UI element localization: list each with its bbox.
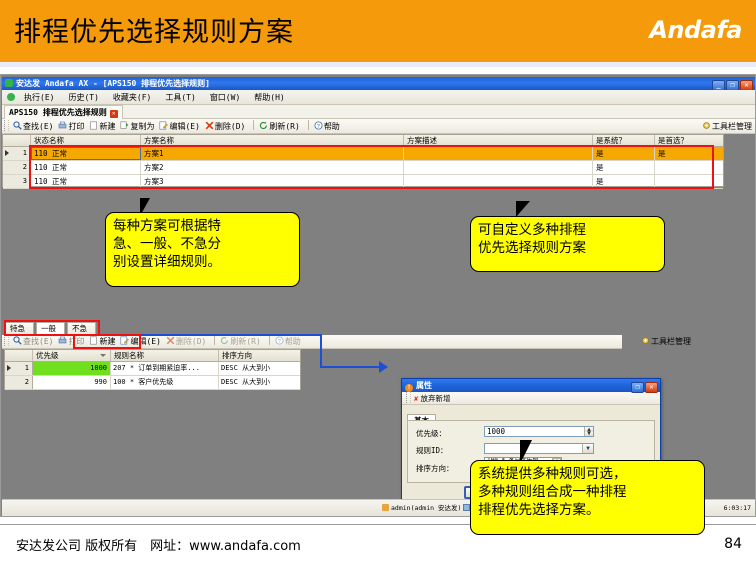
menu-item-history[interactable]: 历史(T) [61, 90, 105, 105]
copy-as-icon [120, 120, 129, 129]
help-icon: ? [314, 120, 323, 129]
rules-grid-header-priority[interactable]: 优先级 [33, 350, 111, 361]
dialog-toolbar-gripper[interactable] [406, 392, 411, 403]
cell-sort-direction[interactable]: DESC 从大到小 [219, 376, 300, 389]
menu-logo-icon [7, 93, 15, 101]
toolbar-copy-as-button[interactable]: 复制为 [119, 119, 158, 134]
dialog-close-icon[interactable]: ✕ [645, 382, 658, 393]
status-user: admin(admin 安达发) [382, 500, 472, 517]
new-icon [89, 120, 98, 129]
toolbar-refresh-button[interactable]: 刷新(R) [258, 119, 303, 134]
connector-arrowhead-icon [379, 361, 388, 373]
dialog-toolbar: ✘放弃新增 [402, 392, 660, 405]
sort-descending-icon [100, 354, 106, 357]
toolbar-manager-button[interactable]: 工具栏管理 [702, 119, 752, 134]
brand-logo: Andafa [649, 16, 742, 44]
callout-rules-detail: 每种方案可根据特 急、一般、不急分 别设置详细规则。 [105, 212, 300, 287]
print-icon [58, 120, 67, 129]
window-controls: _❐✕ [711, 78, 753, 89]
print-icon [58, 336, 67, 345]
rules-toolbar-gripper[interactable] [4, 335, 9, 346]
callout-rule-options: 系统提供多种规则可选， 多种规则组合成一种排程 排程优先选择方案。 [470, 460, 705, 535]
document-tab-label: APS150 排程优先选择规则 [9, 108, 107, 117]
toolbar-delete-label: 删除(D) [215, 122, 245, 131]
toolbar-find-label: 查找(E) [23, 122, 53, 131]
toolbar-delete-button[interactable]: 删除(D) [204, 119, 249, 134]
callout-tail-2 [516, 201, 546, 217]
dialog-tab-bar: 基本 [407, 408, 436, 420]
rules-toolbar-manager-label: 工具栏管理 [651, 337, 691, 346]
sort-direction-field-label: 排序方向： [416, 463, 454, 474]
table-row[interactable]: 2 990 100 * 客户优先级 DESC 从大到小 [5, 376, 300, 390]
cell-rule-name[interactable]: 100 * 客户优先级 [111, 376, 219, 389]
document-tab-aps150[interactable]: APS150 排程优先选择规则✕ [4, 105, 123, 119]
menu-item-tools[interactable]: 工具(T) [158, 90, 202, 105]
menu-item-execute[interactable]: 执行(E) [17, 90, 61, 105]
toolbar-refresh-label: 刷新(R) [269, 122, 299, 131]
menu-item-favorites[interactable]: 收藏夹(F) [106, 90, 158, 105]
row-number[interactable]: 3 [3, 175, 31, 188]
rules-toolbar-find-button[interactable]: 查找(E) [12, 335, 57, 349]
find-icon [13, 336, 22, 345]
find-icon [13, 120, 22, 129]
toolbar-edit-button[interactable]: 编辑(E) [158, 119, 203, 134]
toolbar-new-label: 新建 [99, 122, 115, 131]
toolbar-copy-as-label: 复制为 [130, 122, 154, 131]
dialog-restore-icon[interactable]: ❐ [631, 382, 644, 393]
status-time: 6:03:17 [724, 500, 751, 517]
discard-new-label: 放弃新增 [421, 394, 451, 403]
row-number[interactable]: 2 [3, 161, 31, 174]
window-titlebar: 安达发 Andafa AX - [APS150 排程优先选择规则] _❐✕ [2, 77, 755, 90]
chevron-down-icon[interactable]: ▼ [582, 444, 593, 453]
document-tab-bar: APS150 排程优先选择规则✕ [2, 105, 755, 119]
rules-toolbar-manager-button[interactable]: 工具栏管理 [641, 335, 691, 349]
application-screenshot: 安达发 Andafa AX - [APS150 排程优先选择规则] _❐✕ 执行… [0, 74, 756, 517]
toolbar-print-button[interactable]: 打印 [57, 119, 88, 134]
delete-icon [205, 120, 214, 129]
rule-id-field-label: 规则ID： [416, 445, 448, 456]
toolbar-help-label: 帮助 [324, 122, 340, 131]
connector-top [141, 334, 322, 367]
menu-item-help[interactable]: 帮助(H) [247, 90, 291, 105]
toolbar-separator [253, 120, 254, 130]
toolbar-help-button[interactable]: ?帮助 [313, 119, 344, 134]
dialog-title-text: 属性 [416, 381, 432, 390]
toolbar-print-label: 打印 [68, 122, 84, 131]
highlight-box-schemes [29, 145, 714, 189]
schemes-grid-header-rownum [3, 135, 31, 146]
toolbar-gripper[interactable] [4, 120, 9, 131]
tab-close-icon[interactable]: ✕ [110, 110, 118, 118]
gear-icon [641, 336, 650, 345]
connector-line [320, 366, 380, 368]
user-icon [382, 504, 389, 511]
priority-field-value: 1000 [487, 427, 505, 436]
rules-toolbar-find-label: 查找(E) [23, 337, 53, 346]
menu-bar: 执行(E)历史(T)收藏夹(F)工具(T)窗口(W)帮助(H) [2, 90, 755, 105]
dialog-titlebar: !属性 ❐✕ [402, 379, 660, 392]
discard-new-button[interactable]: ✘放弃新增 [414, 394, 451, 403]
footer-copyright: 安达发公司 版权所有 网址：www.andafa.com [16, 535, 301, 554]
gear-icon [702, 120, 711, 129]
page-title: 排程优先选择规则方案 [14, 10, 294, 49]
edit-icon [159, 120, 168, 129]
header-divider [0, 62, 756, 67]
rules-grid-header-priority-label: 优先级 [36, 351, 59, 360]
refresh-icon [259, 120, 268, 129]
callout-custom-schemes: 可自定义多种排程 优先选择规则方案 [470, 216, 665, 272]
main-toolbar: 查找(E) 打印 新建 复制为 编辑(E) 删除(D) 刷新(R) ?帮助 工具… [2, 119, 755, 134]
window-title-text: 安达发 Andafa AX - [APS150 排程优先选择规则] [16, 79, 210, 88]
toolbar-find-button[interactable]: 查找(E) [12, 119, 57, 134]
info-icon: ! [405, 384, 413, 392]
toolbar-new-button[interactable]: 新建 [88, 119, 119, 134]
toolbar-edit-label: 编辑(E) [169, 122, 199, 131]
spinner-down-icon[interactable]: ▼ [584, 432, 593, 436]
priority-field[interactable]: 1000 ▲ ▼ [484, 426, 594, 437]
page-number: 84 [724, 536, 742, 552]
current-row-marker-icon [7, 365, 11, 371]
row-number[interactable]: 2 [5, 376, 33, 389]
discard-icon: ✘ [414, 394, 419, 403]
toolbar-manager-label: 工具栏管理 [712, 122, 752, 131]
status-user-label: admin(admin 安达发) [391, 504, 461, 512]
menu-item-window[interactable]: 窗口(W) [203, 90, 247, 105]
current-row-marker-icon [5, 150, 9, 156]
svg-text:?: ? [317, 124, 320, 130]
priority-field-label: 优先级： [416, 428, 446, 439]
cell-priority[interactable]: 1000 [33, 362, 111, 375]
toolbar-separator-2 [308, 120, 309, 130]
cell-priority[interactable]: 990 [33, 376, 111, 389]
slide-header: 排程优先选择规则方案 Andafa [0, 0, 756, 62]
rules-grid-header-rownum [5, 350, 33, 361]
highlight-box-new-edit [73, 334, 141, 349]
app-window: 安达发 Andafa AX - [APS150 排程优先选择规则] _❐✕ 执行… [1, 75, 756, 518]
app-icon [5, 79, 13, 87]
